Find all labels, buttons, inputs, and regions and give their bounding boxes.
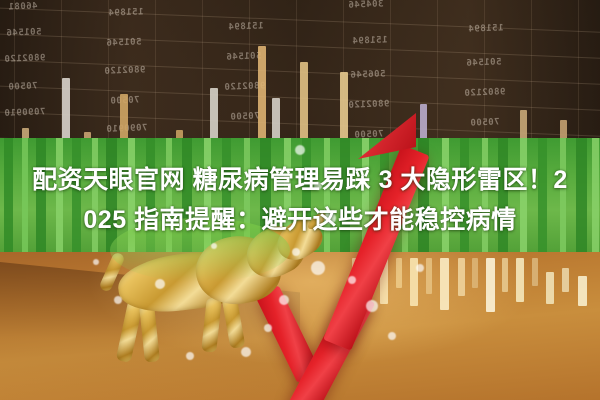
- headline-line-2: 025 指南提醒：避开这些才能稳控病情: [18, 200, 582, 240]
- headline-line-1: 配资天眼官网 糖尿病管理易踩 3 大隐形雷区！2: [18, 160, 582, 200]
- bull-leg-rear-right: [139, 303, 160, 362]
- banner-image: 4608150154698021207050070909101518945015…: [0, 0, 600, 400]
- headline-text: 配资天眼官网 糖尿病管理易踩 3 大隐形雷区！2 025 指南提醒：避开这些才能…: [0, 160, 600, 240]
- golden-bull-statue: [100, 218, 320, 378]
